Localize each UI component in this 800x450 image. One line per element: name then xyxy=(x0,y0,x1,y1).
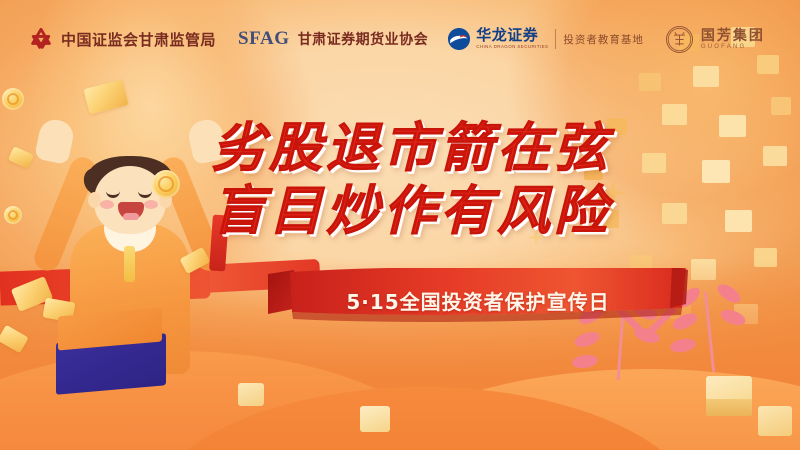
headline-block: 劣股退市箭在弦 盲目炒作有风险 xyxy=(212,118,611,243)
logo-hualong[interactable]: 华龙证券 CHINA DRAGON SECURITIES 投资者教育基地 xyxy=(448,28,644,50)
sponsor-logo-bar: 中国证监会甘肃监管局 SFAG 甘肃证券期货业协会 华龙证券 CHINA DRA… xyxy=(0,0,800,78)
investor-protection-poster: 中国证监会甘肃监管局 SFAG 甘肃证券期货业协会 华龙证券 CHINA DRA… xyxy=(0,0,800,450)
gold-coin-top-left xyxy=(2,88,24,110)
logo-hualong-edu-base: 投资者教育基地 xyxy=(563,32,644,47)
ribbon-banner: 5·15全国投资者保护宣传日 xyxy=(268,268,688,330)
china-dragon-swoosh-icon xyxy=(448,28,470,50)
character-cheek-right xyxy=(144,200,158,209)
logo-hualong-name: 华龙证券 xyxy=(476,28,548,43)
logo-sfag-label: 甘肃证券期货业协会 xyxy=(298,29,429,49)
headline-line-2: 盲目炒作有风险 xyxy=(212,181,611,244)
logo-csrc[interactable]: 中国证监会甘肃监管局 xyxy=(28,26,216,52)
gold-coin-large xyxy=(152,170,180,198)
gold-coin-mid-left xyxy=(4,206,22,224)
gold-cube-bottom-center xyxy=(360,406,390,432)
gold-cube-far-right xyxy=(758,406,792,436)
gold-cube-bottom-left xyxy=(238,383,264,406)
ribbon-label: 5·15全国投资者保护宣传日 xyxy=(268,286,688,315)
character-ear-left xyxy=(88,192,101,208)
logo-guofang-name: 国芳集团 xyxy=(701,28,765,42)
logo-guofang-sub: GUOFANG xyxy=(701,44,765,50)
gold-cube-right xyxy=(706,376,752,416)
logo-divider xyxy=(555,29,556,49)
csrc-triangle-mark-icon xyxy=(28,26,54,52)
logo-sfag[interactable]: SFAG 甘肃证券期货业协会 xyxy=(238,28,428,50)
guofang-seal-icon xyxy=(666,26,693,53)
character-tie xyxy=(124,246,135,282)
character-cheek-left xyxy=(100,200,114,209)
logo-hualong-sub: CHINA DRAGON SECURITIES xyxy=(476,45,548,50)
logo-sfag-acronym: SFAG xyxy=(238,28,290,50)
headline-line-1: 劣股退市箭在弦 xyxy=(212,118,611,181)
character-left-hand xyxy=(34,117,76,165)
logo-guofang[interactable]: 国芳集团 GUOFANG xyxy=(666,26,765,53)
logo-csrc-label: 中国证监会甘肃监管局 xyxy=(61,29,216,50)
